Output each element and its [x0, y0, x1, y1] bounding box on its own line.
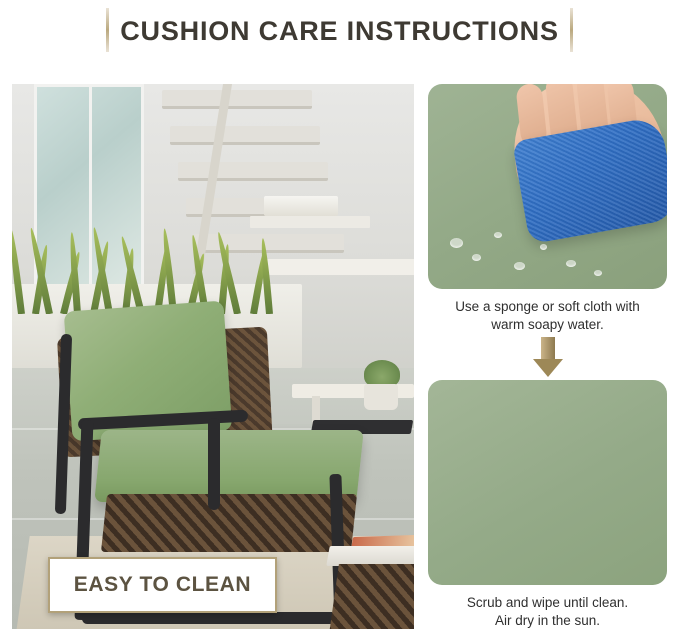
- step-2-caption: Scrub and wipe until clean. Air dry in t…: [428, 594, 667, 630]
- instruction-column: Use a sponge or soft cloth with warm soa…: [428, 84, 667, 630]
- step-1-caption-line-2: warm soapy water.: [428, 316, 667, 334]
- easy-to-clean-label: EASY TO CLEAN: [74, 573, 251, 597]
- water-droplet-icon: [494, 232, 502, 238]
- header: CUSHION CARE INSTRUCTIONS: [0, 0, 679, 62]
- chair-seat-cushion: [94, 430, 364, 502]
- arrow-container: [428, 334, 667, 380]
- step-1-image: [428, 84, 667, 289]
- chair-armrest-front-leg: [208, 418, 220, 510]
- water-droplet-icon: [514, 262, 525, 270]
- step-1-caption: Use a sponge or soft cloth with warm soa…: [428, 298, 667, 334]
- easy-to-clean-badge: EASY TO CLEAN: [48, 557, 277, 613]
- photo-books: [264, 196, 338, 216]
- step-2-caption-line-1: Scrub and wipe until clean.: [428, 594, 667, 612]
- photo-ottoman-body: [329, 564, 414, 629]
- photo-potted-plant-pot: [364, 384, 398, 410]
- step-1-caption-line-1: Use a sponge or soft cloth with: [428, 298, 667, 316]
- step-2-image: [428, 380, 667, 585]
- water-droplet-icon: [450, 238, 463, 248]
- water-droplet-icon: [594, 270, 602, 276]
- water-droplet-icon: [566, 260, 576, 267]
- chair-frame-base-rail: [81, 612, 344, 624]
- water-droplet-icon: [540, 244, 547, 250]
- photo-ottoman-top: [326, 546, 414, 566]
- page-title: CUSHION CARE INSTRUCTIONS: [102, 16, 577, 47]
- chair-rattan-base: [101, 494, 357, 552]
- product-photo: EASY TO CLEAN: [12, 84, 414, 629]
- step-2-caption-line-2: Air dry in the sun.: [428, 612, 667, 630]
- water-droplet-icon: [472, 254, 481, 261]
- photo-ornamental-grass: [12, 224, 298, 314]
